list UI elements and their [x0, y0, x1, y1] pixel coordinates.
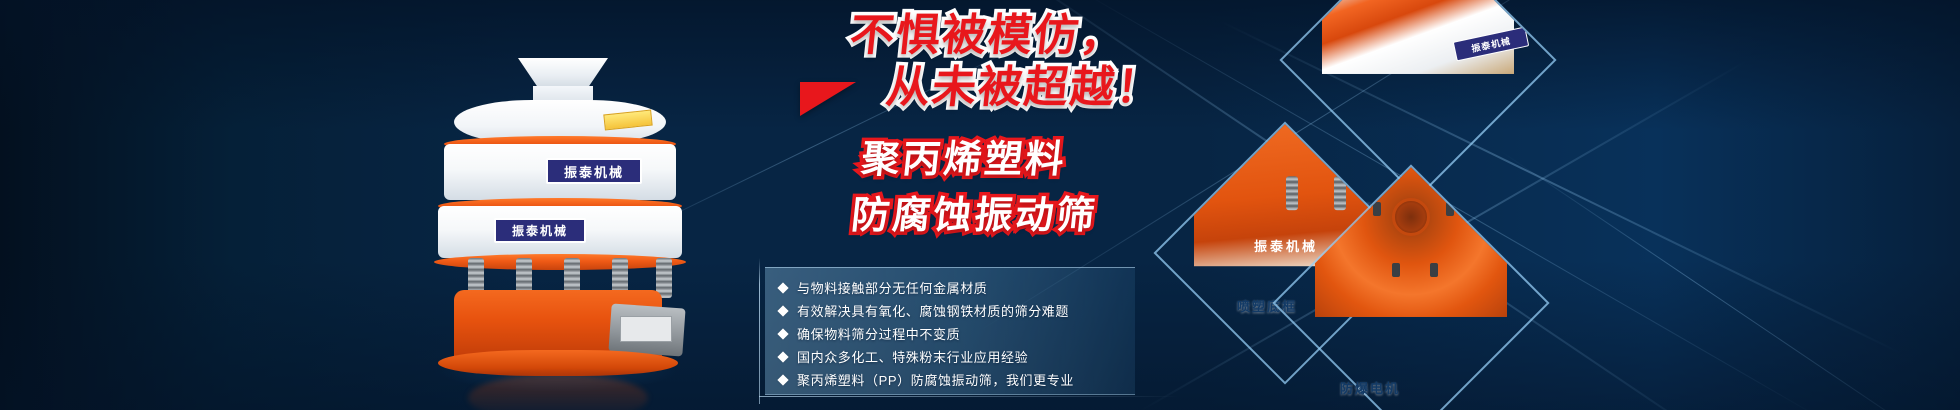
feature-item: 确保物料筛分过程中不变质	[777, 322, 1135, 345]
bullet-diamond-icon	[777, 305, 788, 316]
feature-text: 国内众多化工、特殊粉末行业应用经验	[797, 347, 1028, 366]
feature-text: 确保物料筛分过程中不变质	[797, 324, 960, 343]
feature-panel-bottom-rule	[759, 396, 1179, 397]
motor-hub	[1392, 199, 1430, 237]
product-brand-label-top: 振泰机械	[546, 158, 642, 184]
bullet-diamond-icon	[777, 374, 788, 385]
bullet-diamond-icon	[777, 351, 788, 362]
gallery-brand-text: 振泰机械	[1254, 237, 1318, 256]
feature-item: 有效解决具有氧化、腐蚀钢铁材质的筛分难题	[777, 299, 1135, 322]
feature-item: 国内众多化工、特殊粉末行业应用经验	[777, 345, 1135, 368]
red-arrow-icon	[800, 82, 856, 116]
subheadline-line-2: 防腐蚀振动筛	[849, 184, 1101, 239]
gallery-photo-clamp-ring-image: 振泰机械 振泰机械	[1322, 0, 1514, 75]
product-brand-label-bottom: 振泰机械	[494, 218, 586, 243]
headline-line-2: 从未被超越！	[884, 66, 1165, 111]
promo-banner: 振泰机械 振泰机械 不惧被模仿， 从未被超越！ 聚丙烯塑料 防腐蚀振动筛 与物料…	[0, 0, 1960, 410]
gallery-collage: 振泰机械 振泰机械 喷塑束环 振泰机械 喷塑底框	[1150, 0, 1710, 410]
gallery-caption-motor: 防爆电机	[1340, 378, 1400, 397]
feature-text: 与物料接触部分无任何金属材质	[797, 278, 987, 297]
feature-text: 有效解决具有氧化、腐蚀钢铁材质的筛分难题	[797, 301, 1069, 320]
product-nameplate	[620, 316, 672, 342]
gallery-brand-label: 振泰机械	[1453, 27, 1530, 62]
feature-item: 与物料接触部分无任何金属材质	[777, 276, 1135, 299]
feature-panel-left-rule	[759, 258, 760, 404]
feature-text: 聚丙烯塑料（PP）防腐蚀振动筛，我们更专业	[797, 370, 1074, 389]
bullet-diamond-icon	[777, 328, 788, 339]
bullet-diamond-icon	[777, 282, 788, 293]
subheadline-line-1: 聚丙烯塑料	[859, 128, 1070, 183]
feature-item: 聚丙烯塑料（PP）防腐蚀振动筛，我们更专业	[777, 368, 1135, 391]
feature-list-panel: 与物料接触部分无任何金属材质 有效解决具有氧化、腐蚀钢铁材质的筛分难题 确保物料…	[765, 267, 1135, 395]
main-product-image: 振泰机械 振泰机械	[398, 58, 718, 388]
product-foot-ring	[438, 350, 678, 376]
headline-line-1: 不惧被模仿，	[848, 14, 1129, 59]
